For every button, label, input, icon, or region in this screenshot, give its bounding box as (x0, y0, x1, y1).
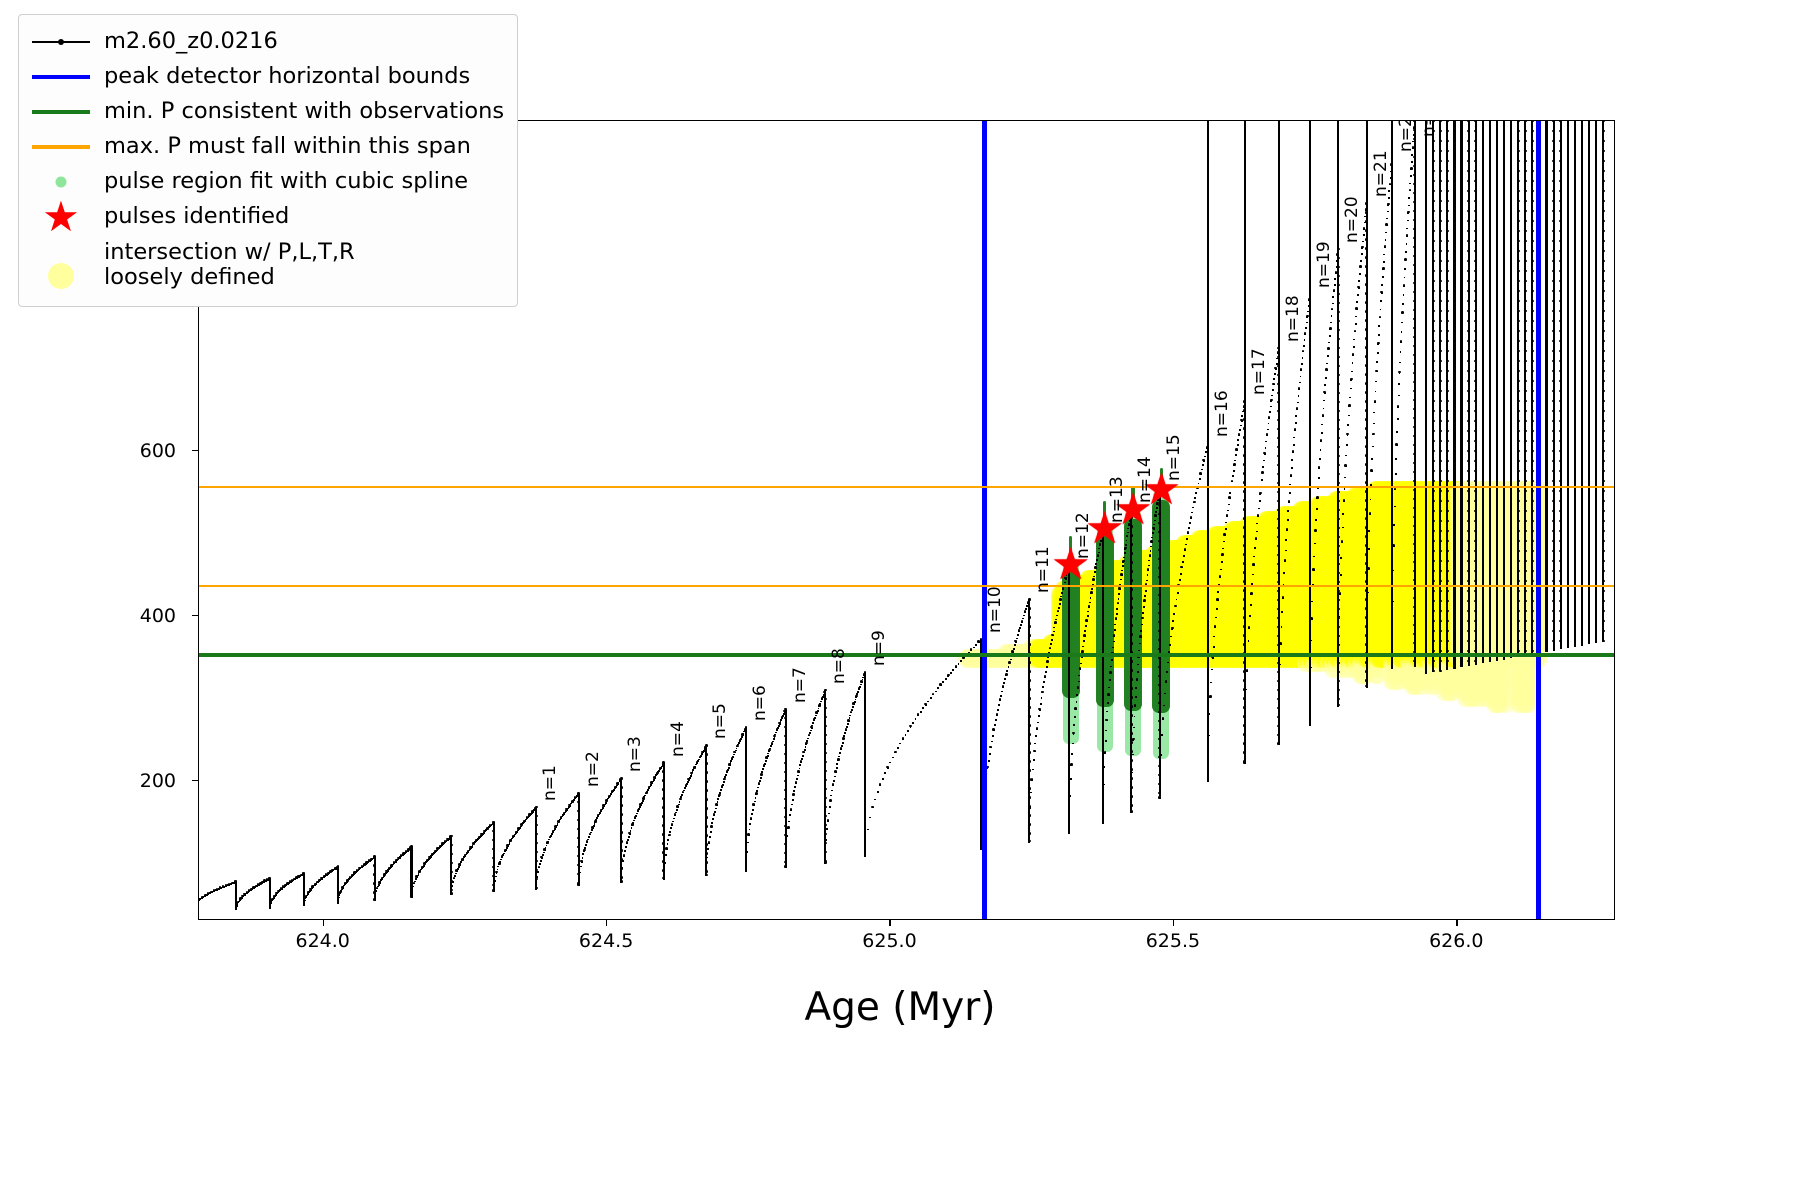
y-tick-label: 400 (56, 605, 176, 627)
y-tick-label: 200 (56, 770, 176, 792)
x-tick-label: 626.0 (1386, 930, 1526, 952)
x-tick-label: 624.0 (253, 930, 393, 952)
figure: FM period (days) Age (Myr) 2004006008001… (0, 0, 1800, 1200)
x-tick-mark (606, 920, 607, 926)
y-tick-label: 600 (56, 440, 176, 462)
x-tick-mark (889, 920, 890, 926)
x-tick-mark (1456, 920, 1457, 926)
x-tick-label: 625.5 (1103, 930, 1243, 952)
x-tick-mark (1173, 920, 1174, 926)
x-tick-mark (323, 920, 324, 926)
x-axis-label: Age (Myr) (0, 985, 1800, 1030)
x-tick-label: 624.5 (536, 930, 676, 952)
x-tick-label: 625.0 (819, 930, 959, 952)
